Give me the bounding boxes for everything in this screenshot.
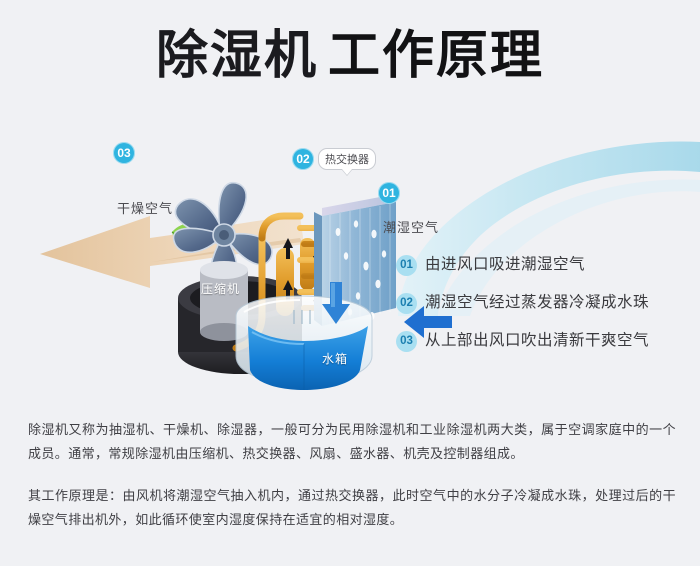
page-title-part2: 工作原理	[328, 27, 544, 85]
label-compressor: 压缩机	[201, 280, 240, 297]
step-badge: 01	[396, 255, 417, 276]
label-heat-exchanger: 热交换器	[318, 148, 376, 170]
paragraph-definition: 除湿机又称为抽湿机、干燥机、除湿器，一般可分为民用除湿机和工业除湿机两大类，属于…	[28, 418, 676, 466]
page-title: 除湿机工作原理	[0, 26, 700, 86]
step-badge: 03	[396, 331, 417, 352]
badge-dry-air: 03	[113, 142, 135, 164]
steps-list: 01 由进风口吸进潮湿空气 02 潮湿空气经过蒸发器冷凝成水珠 03 从上部出风…	[396, 253, 686, 367]
step-text: 潮湿空气经过蒸发器冷凝成水珠	[425, 291, 649, 315]
label-water-tank: 水箱	[322, 350, 348, 367]
description-copy: 除湿机又称为抽湿机、干燥机、除湿器，一般可分为民用除湿机和工业除湿机两大类，属于…	[28, 418, 676, 532]
step-text: 由进风口吸进潮湿空气	[425, 253, 585, 277]
list-item: 01 由进风口吸进潮湿空气	[396, 253, 686, 291]
label-humid-air: 潮湿空气	[383, 217, 439, 236]
list-item: 02 潮湿空气经过蒸发器冷凝成水珠	[396, 291, 686, 329]
badge-humid-air: 01	[378, 182, 400, 204]
badge-heat-exchanger: 02	[292, 148, 314, 170]
list-item: 03 从上部出风口吹出清新干爽空气	[396, 329, 686, 367]
step-text: 从上部出风口吹出清新干爽空气	[425, 329, 649, 353]
paragraph-principle: 其工作原理是：由风机将潮湿空气抽入机内，通过热交换器，此时空气中的水分子冷凝成水…	[28, 484, 676, 532]
step-badge: 02	[396, 293, 417, 314]
label-dry-air: 干燥空气	[117, 198, 173, 217]
page-title-part1: 除湿机	[156, 27, 318, 85]
